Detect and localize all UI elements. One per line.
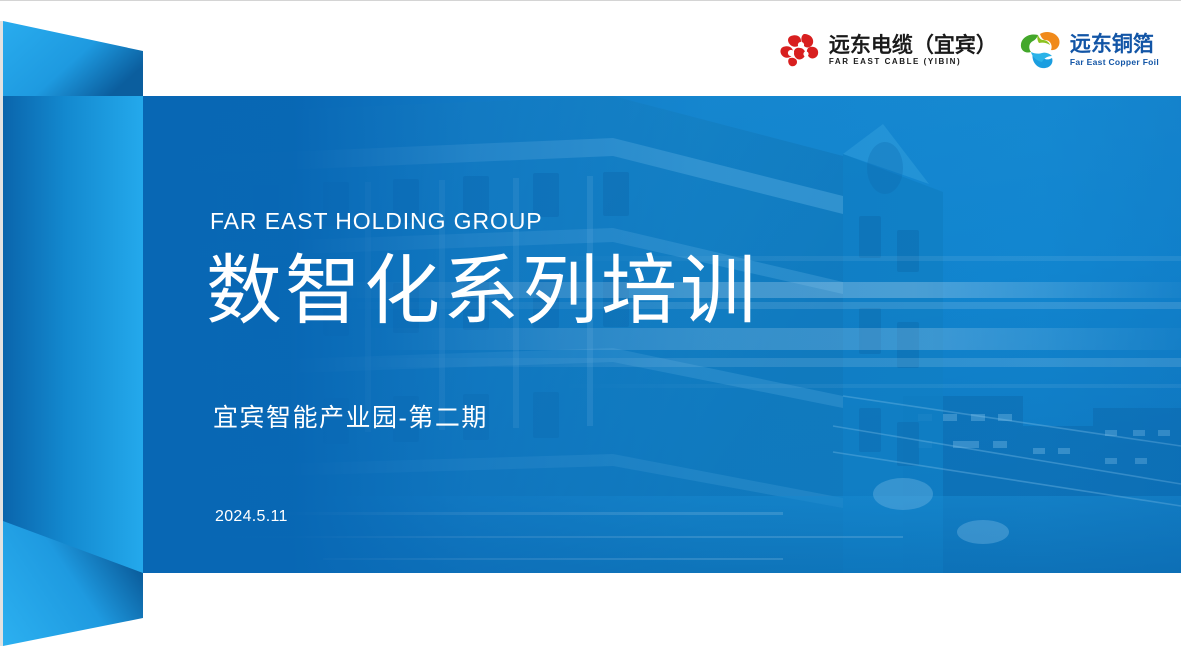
logo-cn-cable: 远东电缆（宜宾） [829, 35, 997, 57]
logo-text-foil: 远东铜箔 Far East Copper Foil [1070, 34, 1159, 67]
date-text: 2024.5.11 [215, 508, 288, 526]
red-cluster-icon [780, 34, 822, 68]
logo-en-cable: FAR EAST CABLE (YIBIN) [829, 57, 997, 67]
logo-cn-foil: 远东铜箔 [1070, 34, 1159, 56]
title-slide: FAR EAST HOLDING GROUP 数智化系列培训 宜宾智能产业园-第… [0, 0, 1181, 665]
logo-bar: 远东电缆（宜宾） FAR EAST CABLE (YIBIN) [780, 31, 1159, 71]
page-title: 数智化系列培训 [206, 251, 759, 330]
logo-far-east-cable-yibin: 远东电缆（宜宾） FAR EAST CABLE (YIBIN) [780, 34, 997, 68]
logo-en-foil: Far East Copper Foil [1070, 57, 1159, 68]
logo-text-cable: 远东电缆（宜宾） FAR EAST CABLE (YIBIN) [829, 35, 997, 68]
eyebrow-text: FAR EAST HOLDING GROUP [210, 208, 543, 235]
subtitle-text: 宜宾智能产业园-第二期 [213, 398, 488, 434]
pinwheel-icon [1019, 31, 1063, 71]
logo-far-east-copper-foil: 远东铜箔 Far East Copper Foil [1019, 31, 1159, 71]
